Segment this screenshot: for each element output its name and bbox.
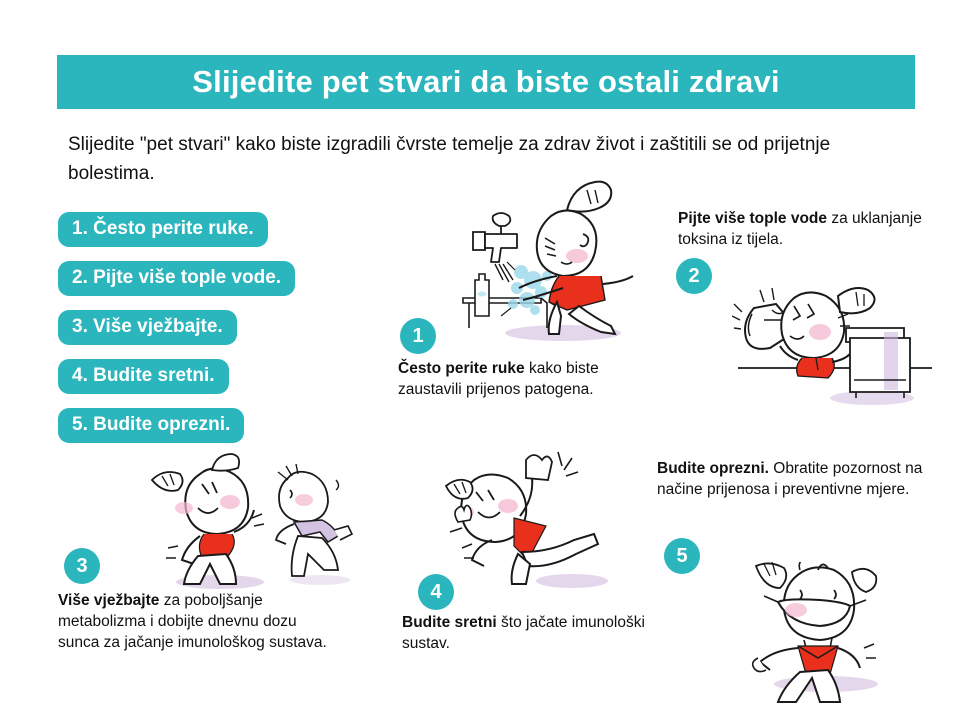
sidebar-item-2[interactable]: 2. Pijte više tople vode.: [58, 261, 295, 296]
header-bar: Slijedite pet stvari da biste ostali zdr…: [57, 55, 915, 109]
sidebar-item-4[interactable]: 4. Budite sretni.: [58, 359, 229, 394]
step-badge-3: 3: [64, 548, 100, 584]
list-item: 3. Više vježbajte.: [58, 310, 295, 359]
step-heading-3: Više vježbajte: [58, 592, 159, 609]
step-caption-5: Budite oprezni. Obratite pozornost na na…: [657, 458, 927, 500]
step-badge-2: 2: [676, 258, 712, 294]
sidebar-item-1[interactable]: 1. Često perite ruke.: [58, 212, 268, 247]
sidebar-item-3[interactable]: 3. Više vježbajte.: [58, 310, 237, 345]
drinking-water-illustration: [732, 282, 947, 437]
step-heading-1: Često perite ruke: [398, 360, 525, 377]
list-item: 1. Često perite ruke.: [58, 212, 295, 261]
step-caption-3: Više vježbajte za poboljšanje metabolizm…: [58, 590, 338, 653]
step-heading-4: Budite sretni: [402, 614, 497, 631]
step-badge-1: 1: [400, 318, 436, 354]
hand-washing-illustration: [455, 176, 665, 346]
exercise-illustration: [142, 452, 367, 597]
summary-list: 1. Često perite ruke. 2. Pijte više topl…: [58, 212, 295, 457]
happy-person-illustration: [422, 448, 637, 598]
step-caption-1: Često perite ruke kako biste zaustavili …: [398, 358, 656, 400]
list-item: 2. Pijte više tople vode.: [58, 261, 295, 310]
step-badge-4: 4: [418, 574, 454, 610]
step-badge-5: 5: [664, 538, 700, 574]
step-heading-5: Budite oprezni.: [657, 460, 769, 477]
list-item: 4. Budite sretni.: [58, 359, 295, 408]
step-caption-2: Pijte više tople vode za uklanjanje toks…: [678, 208, 940, 250]
list-item: 5. Budite oprezni.: [58, 408, 295, 457]
step-caption-4: Budite sretni što jačate imunološki sust…: [402, 612, 662, 654]
face-mask-illustration: [734, 562, 949, 712]
infographic-canvas: Slijedite pet stvari da biste ostali zdr…: [0, 0, 960, 720]
step-heading-2: Pijte više tople vode: [678, 210, 827, 227]
sidebar-item-5[interactable]: 5. Budite oprezni.: [58, 408, 244, 443]
page-title: Slijedite pet stvari da biste ostali zdr…: [192, 64, 779, 100]
